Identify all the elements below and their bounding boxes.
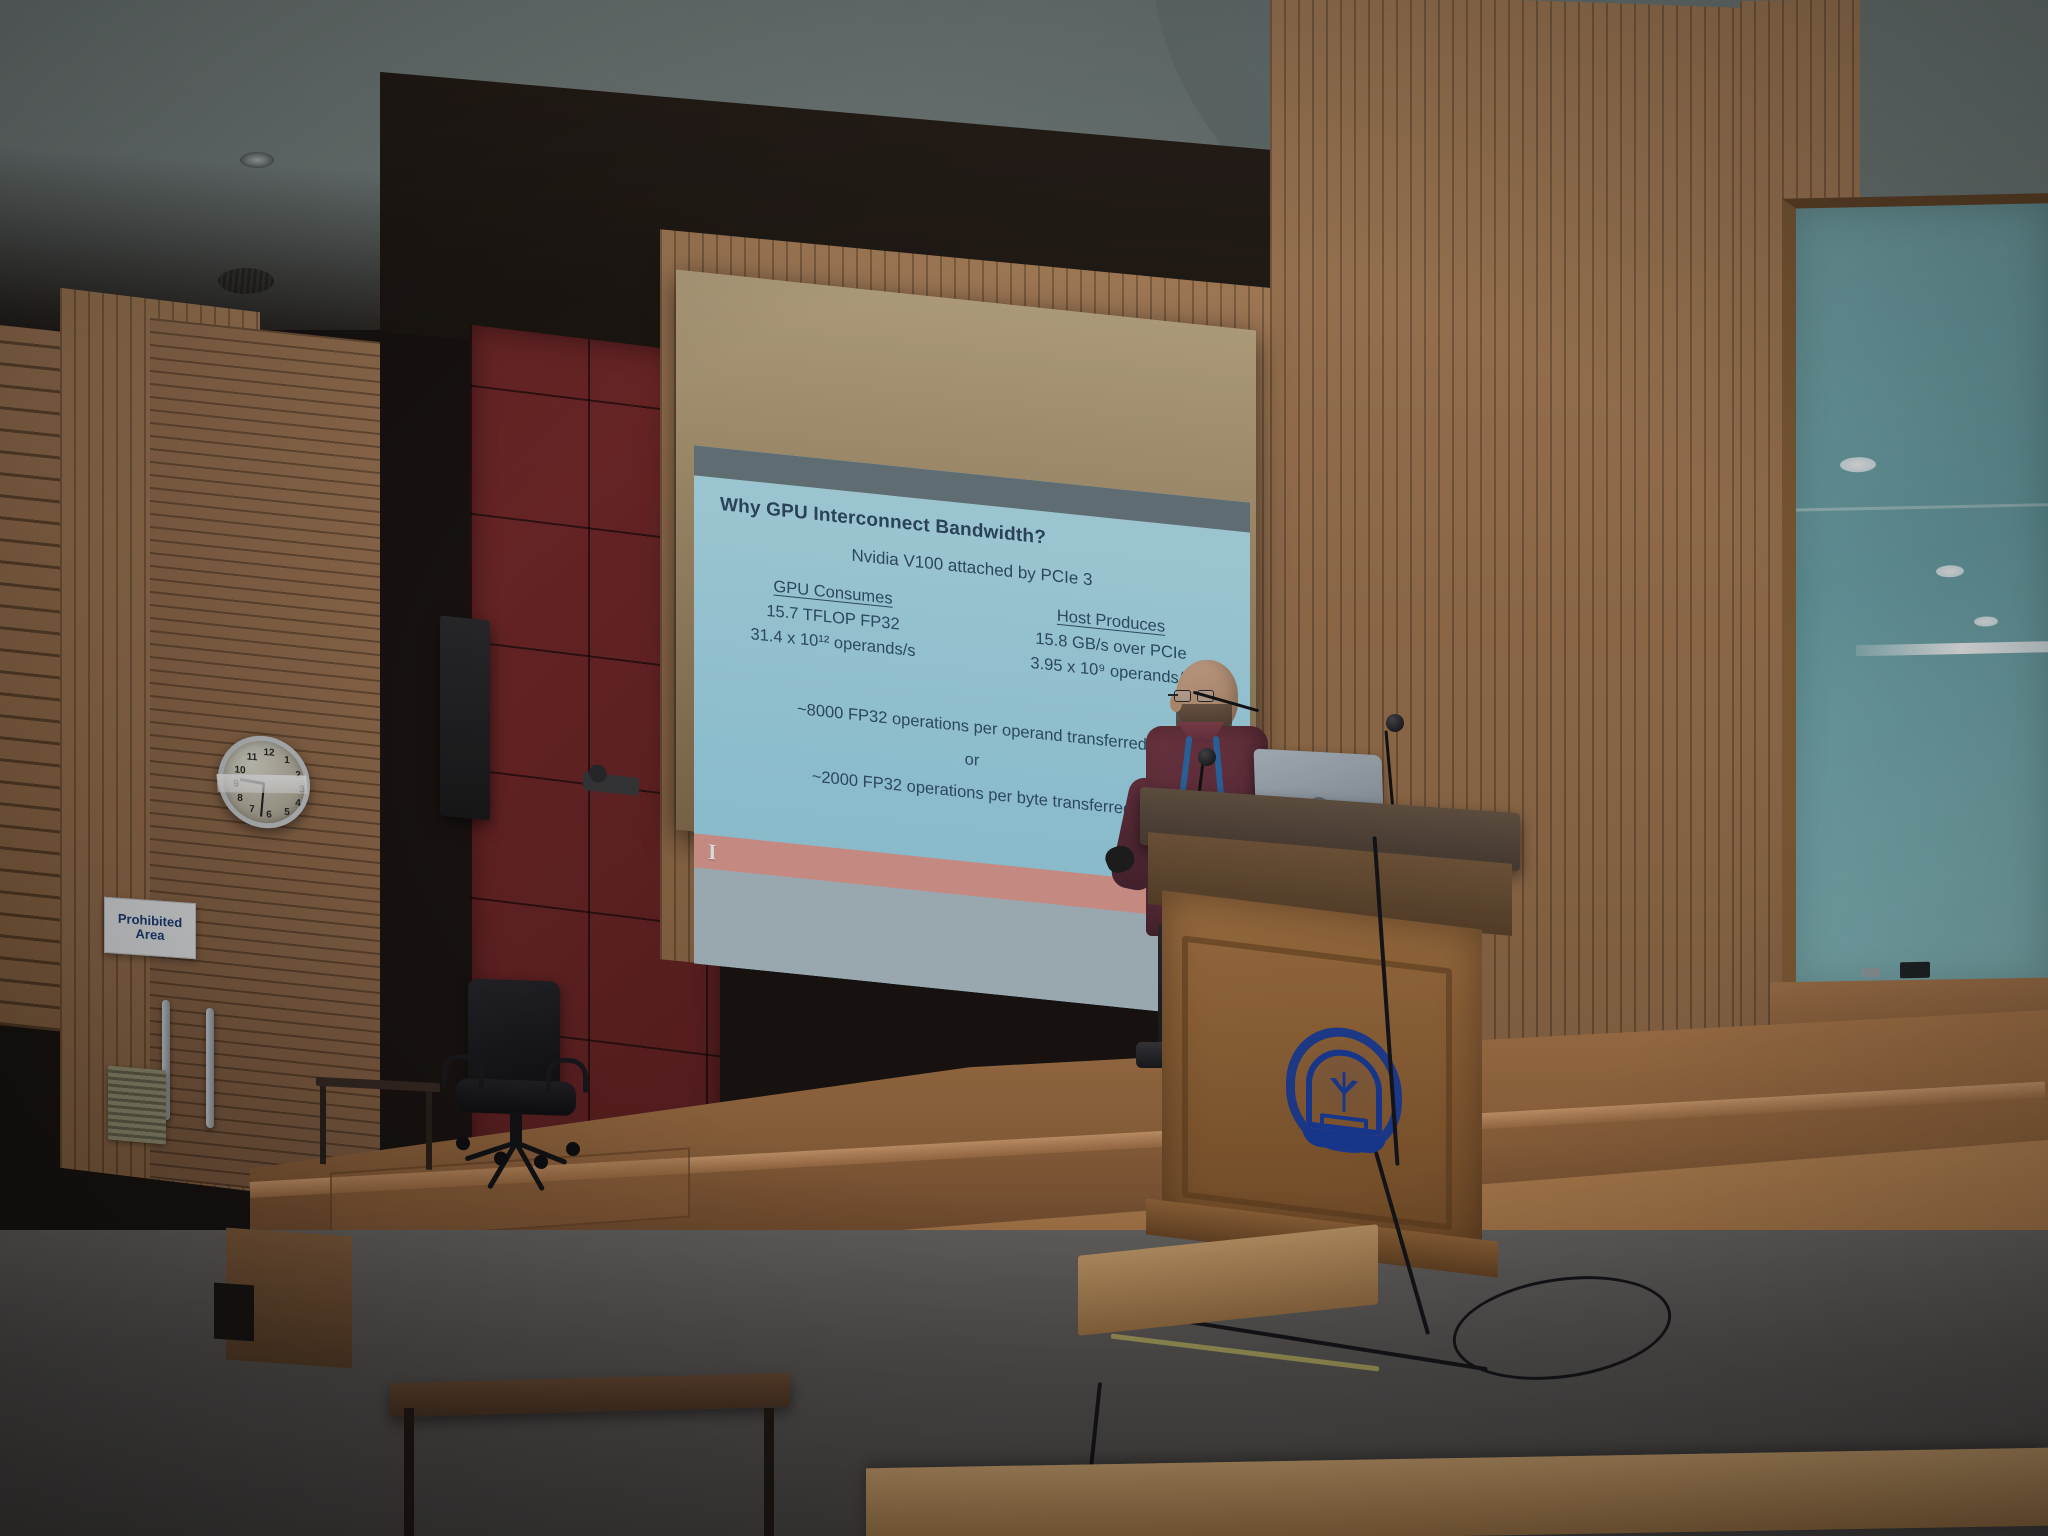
window-light-reflection — [1840, 457, 1876, 473]
window-light-reflection — [1974, 616, 1998, 627]
chair-caster — [534, 1155, 548, 1169]
bench-top-surface — [390, 1373, 790, 1417]
window-horizon-line — [1796, 503, 2048, 511]
iit-bombay-emblem-icon — [1286, 1021, 1402, 1159]
eyeglass-temple — [1168, 694, 1178, 696]
chair-armrest — [546, 1057, 588, 1092]
chair-five-star-base — [460, 1138, 572, 1156]
clock-numeral: 12 — [262, 747, 276, 759]
stage-side-box-recess — [214, 1283, 254, 1342]
bench-leg — [404, 1408, 414, 1536]
clock-numeral: 7 — [245, 803, 259, 815]
sign-line-2: Area — [136, 927, 165, 943]
door-handle[interactable] — [206, 1008, 214, 1129]
clock-numeral: 11 — [245, 751, 259, 763]
chair-caster — [494, 1151, 508, 1165]
illinois-logo-icon: I — [708, 841, 717, 864]
control-room-glass-window — [1782, 193, 2048, 989]
window-light-reflection — [1936, 565, 1964, 578]
bench-leg — [764, 1408, 774, 1536]
wooden-bench — [390, 1378, 790, 1536]
stacked-papers — [108, 1065, 166, 1144]
podium-microphone-head — [1198, 748, 1216, 766]
prohibited-area-sign: Prohibited Area — [104, 897, 196, 959]
office-chair — [444, 978, 584, 1188]
chair-caster — [566, 1142, 580, 1156]
podium-microphone-head — [1386, 714, 1404, 732]
clock-glass-glare — [216, 774, 307, 794]
slide-column-gpu: GPU Consumes 15.7 TFLOP FP32 31.4 x 10¹²… — [694, 569, 972, 667]
side-table-top — [316, 1077, 440, 1092]
clock-numeral: 5 — [280, 806, 294, 818]
clock-numeral: 6 — [262, 809, 276, 821]
side-table-leg — [426, 1092, 432, 1170]
lecture-hall-photo: Why GPU Interconnect Bandwidth? Nvidia V… — [0, 0, 2048, 1536]
eyeglass-lens — [1174, 690, 1191, 702]
clock-numeral: 8 — [233, 792, 247, 804]
window-equipment-silhouette — [1862, 968, 1880, 977]
clock-numeral: 1 — [280, 754, 294, 766]
window-strip-light-reflection — [1856, 641, 2048, 656]
lectern-podium — [1140, 800, 1520, 1300]
chair-caster — [456, 1136, 470, 1150]
chair-armrest — [442, 1053, 484, 1088]
side-table — [316, 1077, 440, 1175]
side-table-leg — [320, 1086, 326, 1164]
window-equipment-silhouette — [1900, 962, 1930, 979]
wall-loudspeaker — [440, 615, 490, 820]
